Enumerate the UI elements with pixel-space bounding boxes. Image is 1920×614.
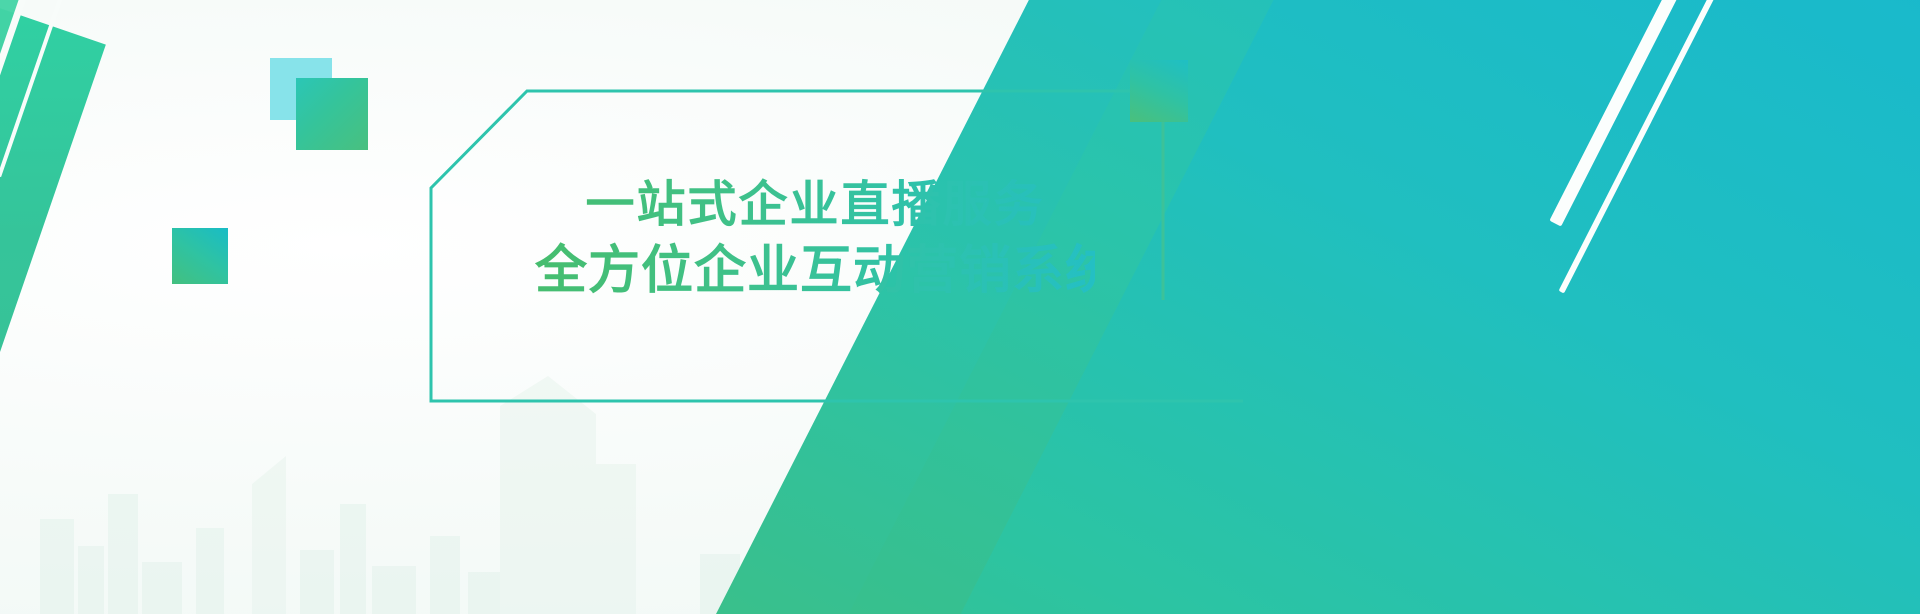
green-square-topright-icon (1130, 60, 1188, 122)
headline-block: 一站式企业直播服务 全方位企业互动营销系统 (535, 172, 1095, 304)
headline-line-1: 一站式企业直播服务 (535, 172, 1095, 238)
green-square-overlap-icon (296, 78, 368, 150)
promo-banner: 一站式企业直播服务 全方位企业互动营销系统 (0, 0, 1920, 614)
green-square-small-icon (172, 228, 228, 284)
headline-line-2: 全方位企业互动营销系统 (535, 238, 1095, 304)
